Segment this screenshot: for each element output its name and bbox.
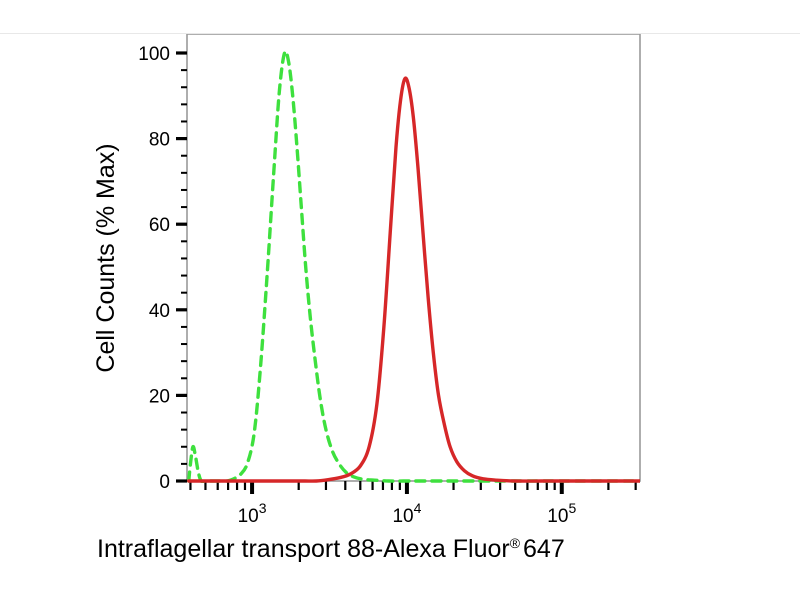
- x-tick-label: 105: [547, 500, 576, 527]
- histogram-plot: 020406080100 103104105 Cell Counts (% Ma…: [0, 0, 800, 600]
- plot-border: [187, 34, 640, 481]
- y-tick-label: 60: [149, 215, 170, 236]
- y-tick-label: 100: [138, 44, 170, 65]
- y-tick-label: 80: [149, 130, 170, 151]
- header-divider: [0, 33, 800, 34]
- x-axis: 103104105: [190, 481, 635, 527]
- x-tick-label: 103: [238, 500, 267, 527]
- flow-cytometry-figure: 020406080100 103104105 Cell Counts (% Ma…: [0, 0, 800, 600]
- registered-mark-icon: ®: [510, 535, 521, 551]
- y-tick-label: 0: [159, 472, 170, 493]
- x-axis-title-main: Intraflagellar transport 88-Alexa Fluor: [97, 535, 510, 563]
- y-tick-label: 20: [149, 386, 170, 407]
- x-axis-title-text: Intraflagellar transport 88-Alexa Fluor®…: [97, 535, 565, 563]
- x-tick-label: 104: [392, 500, 421, 527]
- y-axis-title: Cell Counts (% Max): [92, 143, 120, 372]
- plot-frame: [187, 34, 640, 481]
- y-axis: 020406080100: [138, 44, 187, 493]
- data-curves: [189, 51, 640, 481]
- x-axis-title: Intraflagellar transport 88-Alexa Fluor®…: [97, 535, 565, 563]
- y-tick-label: 40: [149, 301, 170, 322]
- x-axis-title-suffix: 647: [523, 535, 565, 563]
- y-axis-title-text: Cell Counts (% Max): [92, 143, 120, 372]
